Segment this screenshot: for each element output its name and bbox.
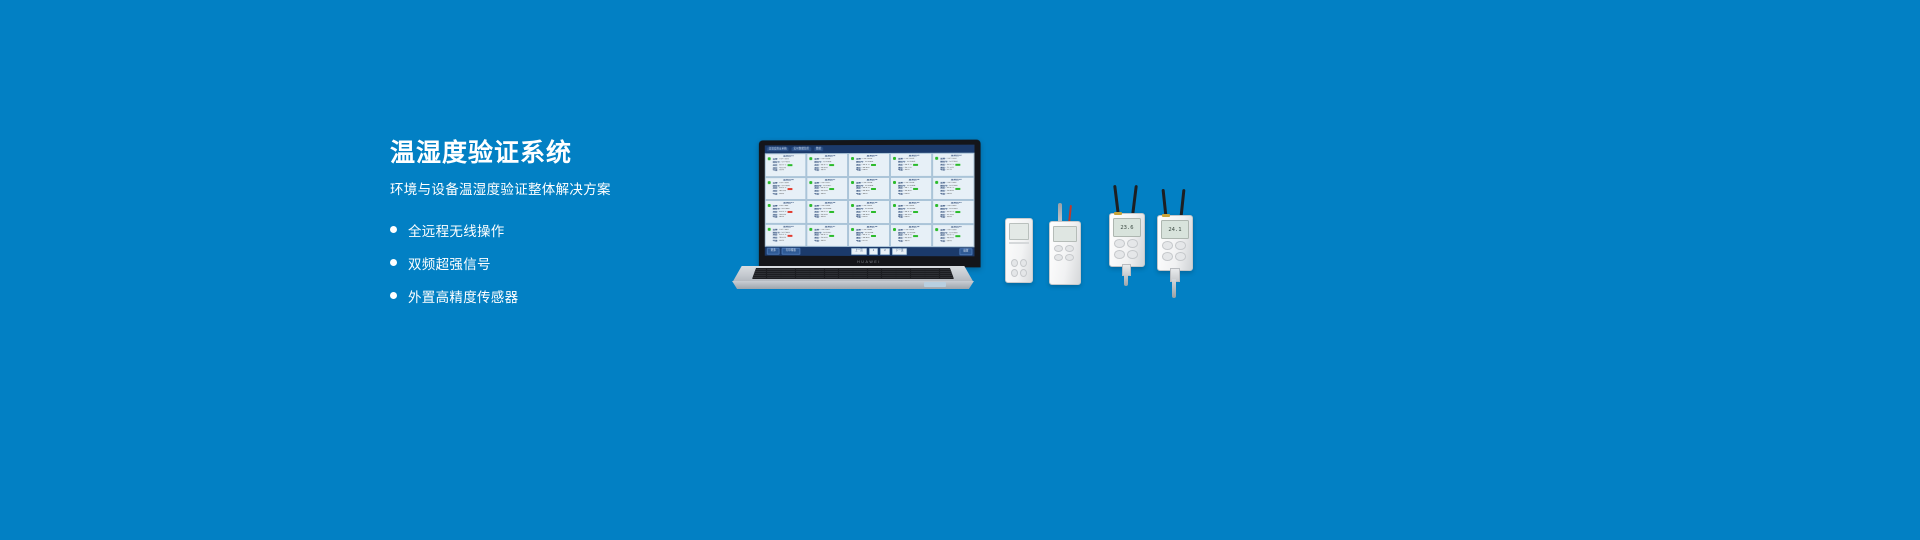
keyboard-key[interactable] [810, 277, 824, 279]
status-dot-icon [851, 204, 854, 207]
device-lcd-screen [1009, 223, 1029, 240]
device-key[interactable] [1065, 245, 1074, 252]
monitoring-card[interactable]: 监测点01设备:HS-T101通道号:CH-001温度:22.6℃湿度:45.2… [765, 153, 807, 176]
dual-band-validator-external-sensor-device: 24.1 [1157, 189, 1191, 299]
card-row-value: 88% [905, 216, 910, 219]
status-badge [955, 211, 960, 213]
device-key[interactable] [1065, 254, 1074, 261]
status-badge [787, 211, 792, 213]
card-data-row: 电量:88% [856, 169, 888, 172]
keyboard-key[interactable] [853, 277, 867, 279]
card-row-value: 91% [947, 216, 952, 219]
device-key[interactable] [1114, 250, 1125, 259]
antenna-icon [1113, 185, 1119, 215]
list-item: 全远程无线操作 [390, 220, 720, 240]
status-dot-icon [892, 204, 895, 207]
card-row-value: 93% [863, 193, 868, 196]
device-keypad [1162, 241, 1186, 261]
card-data-row: 电量:93% [856, 193, 888, 196]
monitoring-card[interactable]: 监测点17设备:HS-T117通道号:CH-017温度:22.8℃湿度:45.3… [806, 223, 848, 247]
status-badge [913, 164, 918, 166]
card-data-row: 电量:92% [814, 169, 846, 172]
card-data-row: 电量:82% [773, 216, 805, 219]
card-data-row: 电量:92% [898, 240, 930, 243]
device-key[interactable] [1011, 259, 1018, 267]
card-row-key: 电量: [856, 216, 862, 219]
card-data-row: 电量:84% [773, 193, 805, 196]
status-badge [913, 235, 918, 237]
device-sensor-tip [1172, 279, 1177, 298]
bullet-dot-icon [390, 226, 397, 233]
card-row-value: 88% [863, 169, 868, 172]
card-row-value: 82% [779, 216, 784, 219]
device-key[interactable] [1054, 245, 1063, 252]
card-data-row: 电量:90% [814, 240, 846, 243]
card-row-key: 电量: [773, 170, 779, 173]
status-dot-icon [809, 181, 812, 184]
more-button[interactable]: 更多 [767, 248, 780, 255]
card-data-row: 电量:87% [856, 240, 888, 243]
device-key[interactable] [1011, 269, 1018, 277]
card-row-value: 91% [905, 169, 910, 172]
card-row-value: 89% [947, 193, 952, 196]
list-item: 双频超强信号 [390, 253, 720, 273]
keyboard-key[interactable] [825, 277, 839, 279]
card-row-value: 89% [947, 240, 952, 243]
feature-label: 双频超强信号 [408, 253, 491, 273]
status-badge [787, 235, 792, 237]
card-row-key: 电量: [856, 169, 862, 172]
device-lcd-screen [1053, 226, 1077, 242]
device-key[interactable] [1162, 252, 1173, 261]
card-data-row: 电量:95% [773, 170, 805, 173]
laptop-sticker [924, 282, 946, 287]
monitoring-card[interactable]: 监测点02设备:HS-T102通道号:CH-002温度:22.8℃湿度:46.0… [806, 153, 848, 177]
status-dot-icon [767, 181, 770, 184]
card-row-value: 90% [821, 240, 826, 243]
card-data-row: 电量:87% [940, 169, 972, 172]
status-badge [787, 188, 792, 190]
laptop-bezel: 温湿度验证系统 实时数据监控 数据 监测点01设备:HS-T101通道号:CH-… [765, 145, 975, 257]
card-row-value: 87% [863, 240, 868, 243]
device-reading: 24.1 [1168, 227, 1181, 233]
hero-banner: 温湿度验证系统 环境与设备温湿度验证整体解决方案 全远程无线操作 双频超强信号 … [0, 0, 1920, 540]
device-key[interactable] [1020, 259, 1027, 267]
card-row-value: 86% [905, 193, 910, 196]
feature-label: 全远程无线操作 [408, 220, 505, 240]
antenna-icon [1180, 189, 1185, 217]
keyboard-key[interactable] [753, 277, 767, 279]
monitoring-card[interactable]: 监测点08设备:HS-T108通道号:CH-008温度:23.0℃湿度:46.2… [848, 176, 890, 200]
feature-list: 全远程无线操作 双频超强信号 外置高精度传感器 [390, 220, 720, 306]
monitoring-card[interactable]: 监测点16设备:HS-T116通道号:CH-016温度:25.1℃湿度:48.8… [765, 223, 807, 246]
keyboard-key[interactable] [925, 277, 939, 279]
status-dot-icon [767, 157, 770, 160]
monitoring-card[interactable]: 监测点19设备:HS-T119通道号:CH-019温度:22.6℃湿度:45.0… [890, 224, 932, 248]
card-row-value: 92% [821, 169, 826, 172]
keyboard-key[interactable] [796, 277, 810, 279]
status-dot-icon [935, 228, 938, 231]
card-data-row: 电量:91% [940, 216, 972, 219]
card-data-row: 电量:89% [940, 193, 972, 196]
status-dot-icon [809, 227, 812, 230]
bullet-dot-icon [390, 292, 397, 299]
keyboard-key[interactable] [839, 277, 853, 279]
card-data-row: 电量:86% [898, 193, 930, 196]
wireless-logger-device [1005, 218, 1033, 283]
card-row-key: 电量: [856, 240, 862, 243]
wireless-logger-with-probe-device [1049, 203, 1079, 283]
status-badge [955, 188, 960, 190]
monitoring-card[interactable]: 监测点15设备:HS-T115通道号:CH-015温度:23.6℃湿度:47.4… [932, 200, 974, 224]
card-data-row: 电量:90% [814, 193, 846, 196]
status-badge [913, 211, 918, 213]
device-reading: 23.6 [1120, 225, 1133, 231]
banner-text-block: 温湿度验证系统 环境与设备温湿度验证整体解决方案 全远程无线操作 双频超强信号 … [390, 140, 720, 319]
feature-label: 外置高精度传感器 [408, 286, 518, 306]
card-row-value: 90% [821, 193, 826, 196]
card-row-key: 电量: [814, 240, 820, 243]
card-row-key: 电量: [856, 193, 862, 196]
keyboard-key[interactable] [896, 277, 910, 279]
status-badge [829, 211, 834, 213]
status-dot-icon [892, 180, 895, 183]
status-badge [871, 164, 876, 166]
laptop-lid: 温湿度验证系统 实时数据监控 数据 监测点01设备:HS-T101通道号:CH-… [759, 140, 981, 268]
monitoring-card[interactable]: 监测点04设备:HS-T104通道号:CH-004温度:22.4℃湿度:45.7… [890, 153, 932, 177]
card-row-key: 电量: [898, 240, 904, 243]
card-row-key: 电量: [940, 216, 946, 219]
device-connector-icon [1114, 212, 1122, 215]
card-row-key: 电量: [940, 193, 946, 196]
sensor-device-group: 23.6 24.1 [1005, 185, 1220, 320]
card-row-key: 电量: [814, 216, 820, 219]
device-key[interactable] [1175, 252, 1186, 261]
device-key[interactable] [1127, 239, 1138, 248]
print-report-button[interactable]: 打印报表 [782, 248, 800, 255]
card-row-key: 电量: [898, 169, 904, 172]
status-dot-icon [809, 157, 812, 160]
card-row-key: 电量: [773, 193, 779, 196]
toolbar-left-group: 更多 打印报表 [767, 248, 800, 255]
card-data-row: 电量:91% [898, 169, 930, 172]
antenna-icon [1162, 189, 1167, 217]
monitoring-card[interactable]: 监测点05设备:HS-T105通道号:CH-005温度:23.3℃湿度:47.1… [932, 153, 974, 177]
laptop-screen: 温湿度验证系统 实时数据监控 数据 监测点01设备:HS-T101通道号:CH-… [765, 145, 975, 257]
status-badge [871, 211, 876, 213]
status-badge [955, 235, 960, 237]
status-badge [871, 235, 876, 237]
keyboard-key[interactable] [911, 277, 925, 279]
toolbar-pager-group: 上一页 1 2 下一页 [851, 248, 907, 255]
monitoring-card[interactable]: 监测点06设备:HS-T106通道号:CH-006温度:24.9℃湿度:48.3… [765, 177, 807, 200]
status-dot-icon [935, 180, 938, 183]
card-row-value: 84% [779, 193, 784, 196]
card-data-row: 电量:88% [898, 216, 930, 219]
status-badge [871, 188, 876, 190]
card-row-value: 92% [905, 240, 910, 243]
card-row-value: 83% [779, 240, 784, 243]
brand-label: HUAWEI [857, 259, 881, 263]
toolbar-right-group: 设置 [959, 248, 972, 255]
bullet-dot-icon [390, 259, 397, 266]
device-key[interactable] [1127, 250, 1138, 259]
device-key[interactable] [1175, 241, 1186, 250]
list-item: 外置高精度传感器 [390, 286, 720, 306]
device-key[interactable] [1020, 269, 1027, 277]
tab-system[interactable]: 温湿度验证系统 [767, 147, 789, 152]
card-row-key: 电量: [898, 216, 904, 219]
device-key[interactable] [1054, 254, 1063, 261]
device-lcd-screen: 23.6 [1113, 218, 1141, 237]
device-probe-icon [1058, 203, 1062, 223]
monitoring-card[interactable]: 监测点07设备:HS-T107通道号:CH-007温度:22.9℃湿度:45.5… [806, 177, 848, 200]
page-2-button[interactable]: 2 [880, 248, 889, 255]
status-dot-icon [851, 157, 854, 160]
tab-realtime-data[interactable]: 实时数据监控 [792, 147, 811, 152]
page-title: 温湿度验证系统 [390, 140, 720, 168]
monitoring-card[interactable]: 监测点10设备:HS-T110通道号:CH-010温度:23.2℃湿度:45.8… [932, 176, 974, 200]
status-dot-icon [767, 227, 770, 230]
antenna-icon [1131, 185, 1137, 215]
status-dot-icon [935, 204, 938, 207]
device-key[interactable] [1162, 241, 1173, 250]
card-data-row: 电量:85% [856, 216, 888, 219]
next-page-button[interactable]: 下一页 [892, 248, 908, 255]
monitoring-card-grid: 监测点01设备:HS-T101通道号:CH-001温度:22.6℃湿度:45.2… [765, 153, 975, 248]
device-keypad [1114, 239, 1138, 259]
keyboard-key[interactable] [781, 277, 795, 279]
status-dot-icon [935, 157, 938, 160]
status-dot-icon [851, 181, 854, 184]
laptop-product-image: 温湿度验证系统 实时数据监控 数据 监测点01设备:HS-T101通道号:CH-… [718, 140, 988, 300]
settings-button[interactable]: 设置 [959, 248, 972, 255]
device-lcd-screen: 24.1 [1161, 220, 1189, 239]
card-row-value: 87% [947, 169, 952, 172]
page-1-button[interactable]: 1 [869, 248, 878, 255]
card-data-row: 电量:83% [773, 240, 805, 243]
status-dot-icon [892, 228, 895, 231]
status-badge [913, 188, 918, 190]
card-row-key: 电量: [773, 216, 779, 219]
monitoring-card[interactable]: 监测点14设备:HS-T114通道号:CH-014温度:22.3℃湿度:44.5… [890, 200, 932, 224]
status-badge [829, 188, 834, 190]
keyboard-key[interactable] [767, 277, 781, 279]
status-dot-icon [809, 204, 812, 207]
card-row-value: 94% [821, 216, 826, 219]
laptop-base [718, 266, 988, 290]
device-keypad [1011, 259, 1027, 277]
device-key[interactable] [1114, 239, 1125, 248]
card-data-row: 电量:94% [814, 216, 846, 219]
keyboard-key[interactable] [882, 277, 896, 279]
card-row-key: 电量: [773, 240, 779, 243]
device-sensor-tip [1124, 273, 1128, 286]
tab-data[interactable]: 数据 [814, 147, 823, 152]
laptop-keyboard [752, 268, 954, 279]
card-data-row: 电量:89% [940, 240, 972, 243]
card-row-key: 电量: [814, 170, 820, 173]
device-keypad [1054, 245, 1074, 261]
monitoring-card[interactable]: 监测点13设备:HS-T113通道号:CH-013温度:23.4℃湿度:46.6… [848, 200, 890, 224]
card-row-key: 电量: [940, 240, 946, 243]
monitoring-card[interactable]: 监测点11设备:HS-T111通道号:CH-011温度:25.4℃湿度:49.0… [765, 200, 807, 223]
status-badge [955, 164, 960, 166]
monitoring-card[interactable]: 监测点03设备:HS-T103通道号:CH-003温度:23.1℃湿度:44.8… [848, 153, 890, 177]
keyboard-key[interactable] [940, 277, 954, 279]
card-row-key: 电量: [898, 193, 904, 196]
device-connector-icon [1162, 214, 1170, 217]
status-dot-icon [851, 227, 854, 230]
keyboard-key[interactable] [868, 277, 882, 279]
status-badge [829, 235, 834, 237]
keyboard-row [753, 277, 954, 279]
monitoring-card[interactable]: 监测点20设备:HS-T120通道号:CH-020温度:23.0℃湿度:46.4… [932, 224, 974, 248]
status-dot-icon [892, 157, 895, 160]
monitoring-card[interactable]: 监测点18设备:HS-T118通道号:CH-018温度:23.5℃湿度:46.9… [848, 223, 890, 247]
card-row-value: 95% [779, 170, 784, 173]
monitoring-card[interactable]: 监测点12设备:HS-T112通道号:CH-012温度:22.5℃湿度:45.1… [806, 200, 848, 223]
dual-band-validator-device: 23.6 [1109, 185, 1143, 287]
prev-page-button[interactable]: 上一页 [851, 248, 867, 255]
card-row-key: 电量: [940, 169, 946, 172]
monitoring-card[interactable]: 监测点09设备:HS-T109通道号:CH-009温度:22.7℃湿度:44.9… [890, 176, 932, 200]
status-dot-icon [767, 204, 770, 207]
page-subtitle: 环境与设备温湿度验证整体解决方案 [390, 182, 720, 198]
card-row-key: 电量: [814, 193, 820, 196]
card-row-value: 85% [863, 216, 868, 219]
device-label-strip [1009, 242, 1029, 244]
